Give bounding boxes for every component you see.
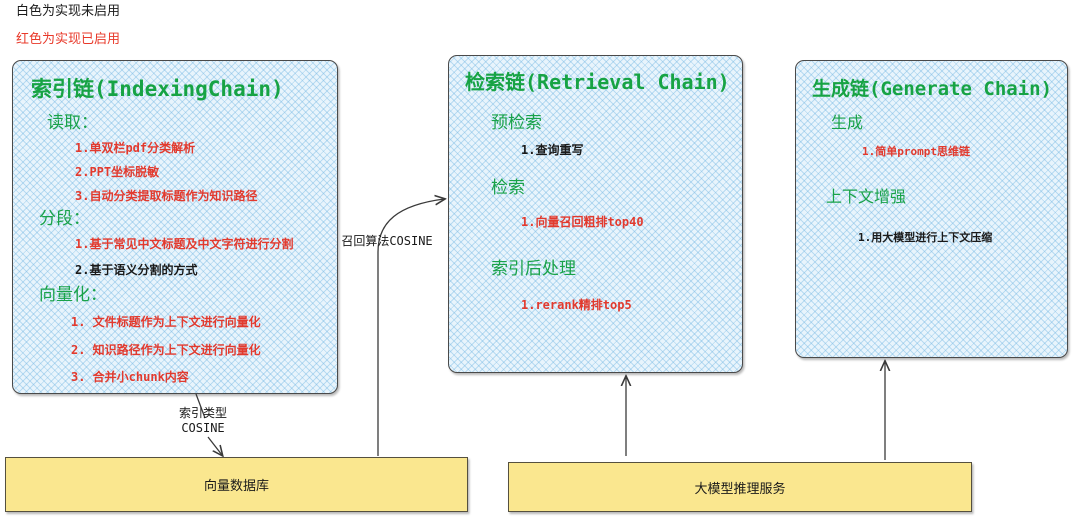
indexing-item-vec-2: 2. 知识路径作为上下文进行向量化 (71, 341, 261, 358)
generate-item-ctx-1: 1.用大模型进行上下文压缩 (858, 229, 992, 245)
edge-label-index-type: 索引类型 COSINE (168, 406, 238, 436)
indexing-chain-box[interactable]: 索引链(IndexingChain) 读取： 1.单双栏pdf分类解析 2.PP… (12, 60, 338, 394)
indexing-section-heading-split: 分段： (39, 204, 90, 229)
indexing-item-split-2: 2.基于语义分割的方式 (75, 261, 197, 278)
indexing-section-heading-read: 读取： (47, 108, 98, 133)
retrieval-item-post-1: 1.rerank精排top5 (521, 296, 632, 313)
edge-label-index-type-line1: 索引类型 (168, 406, 238, 421)
retrieval-item-pre-1: 1.查询重写 (521, 141, 583, 158)
vector-database-label: 向量数据库 (204, 475, 269, 494)
retrieval-chain-title: 检索链(Retrieval Chain) (465, 66, 730, 95)
diagram-canvas: 白色为实现未启用 红色为实现已启用 索引链(IndexingChain) 读取：… (0, 0, 1080, 517)
indexing-item-read-3: 3.自动分类提取标题作为知识路径 (75, 187, 257, 204)
retrieval-section-heading-pre: 预检索 (491, 108, 542, 133)
generate-chain-box[interactable]: 生成链(Generate Chain) 生成 1.简单prompt思维链 上下文… (795, 60, 1068, 358)
generate-chain-title: 生成链(Generate Chain) (812, 74, 1052, 101)
generate-section-heading-ctx: 上下文增强 (826, 183, 906, 207)
retrieval-item-search-1: 1.向量召回粗排top40 (521, 213, 644, 230)
retrieval-section-heading-search: 检索 (491, 173, 525, 198)
retrieval-chain-box[interactable]: 检索链(Retrieval Chain) 预检索 1.查询重写 检索 1.向量召… (448, 55, 743, 373)
llm-service-box[interactable]: 大模型推理服务 (508, 462, 972, 512)
indexing-chain-title: 索引链(IndexingChain) (31, 73, 284, 103)
vector-database-box[interactable]: 向量数据库 (5, 457, 468, 512)
legend-white-note: 白色为实现未启用 (16, 4, 120, 17)
indexing-item-read-1: 1.单双栏pdf分类解析 (75, 139, 195, 156)
generate-section-heading-gen: 生成 (831, 109, 863, 133)
generate-item-gen-1: 1.简单prompt思维链 (862, 143, 970, 159)
indexing-item-vec-1: 1. 文件标题作为上下文进行向量化 (71, 313, 261, 330)
retrieval-section-heading-post: 索引后处理 (491, 254, 576, 279)
indexing-item-split-1: 1.基于常见中文标题及中文字符进行分割 (75, 235, 293, 252)
legend-red-note: 红色为实现已启用 (16, 32, 120, 45)
edge-indexing-to-vectordb (208, 437, 222, 455)
indexing-item-read-2: 2.PPT坐标脱敏 (75, 163, 159, 180)
llm-service-label: 大模型推理服务 (694, 478, 785, 497)
indexing-section-heading-vectorize: 向量化： (39, 280, 107, 305)
indexing-item-vec-3: 3. 合并小chunk内容 (71, 368, 189, 385)
edge-label-recall: 召回算法COSINE (333, 234, 441, 249)
edge-label-index-type-line2: COSINE (168, 421, 238, 436)
